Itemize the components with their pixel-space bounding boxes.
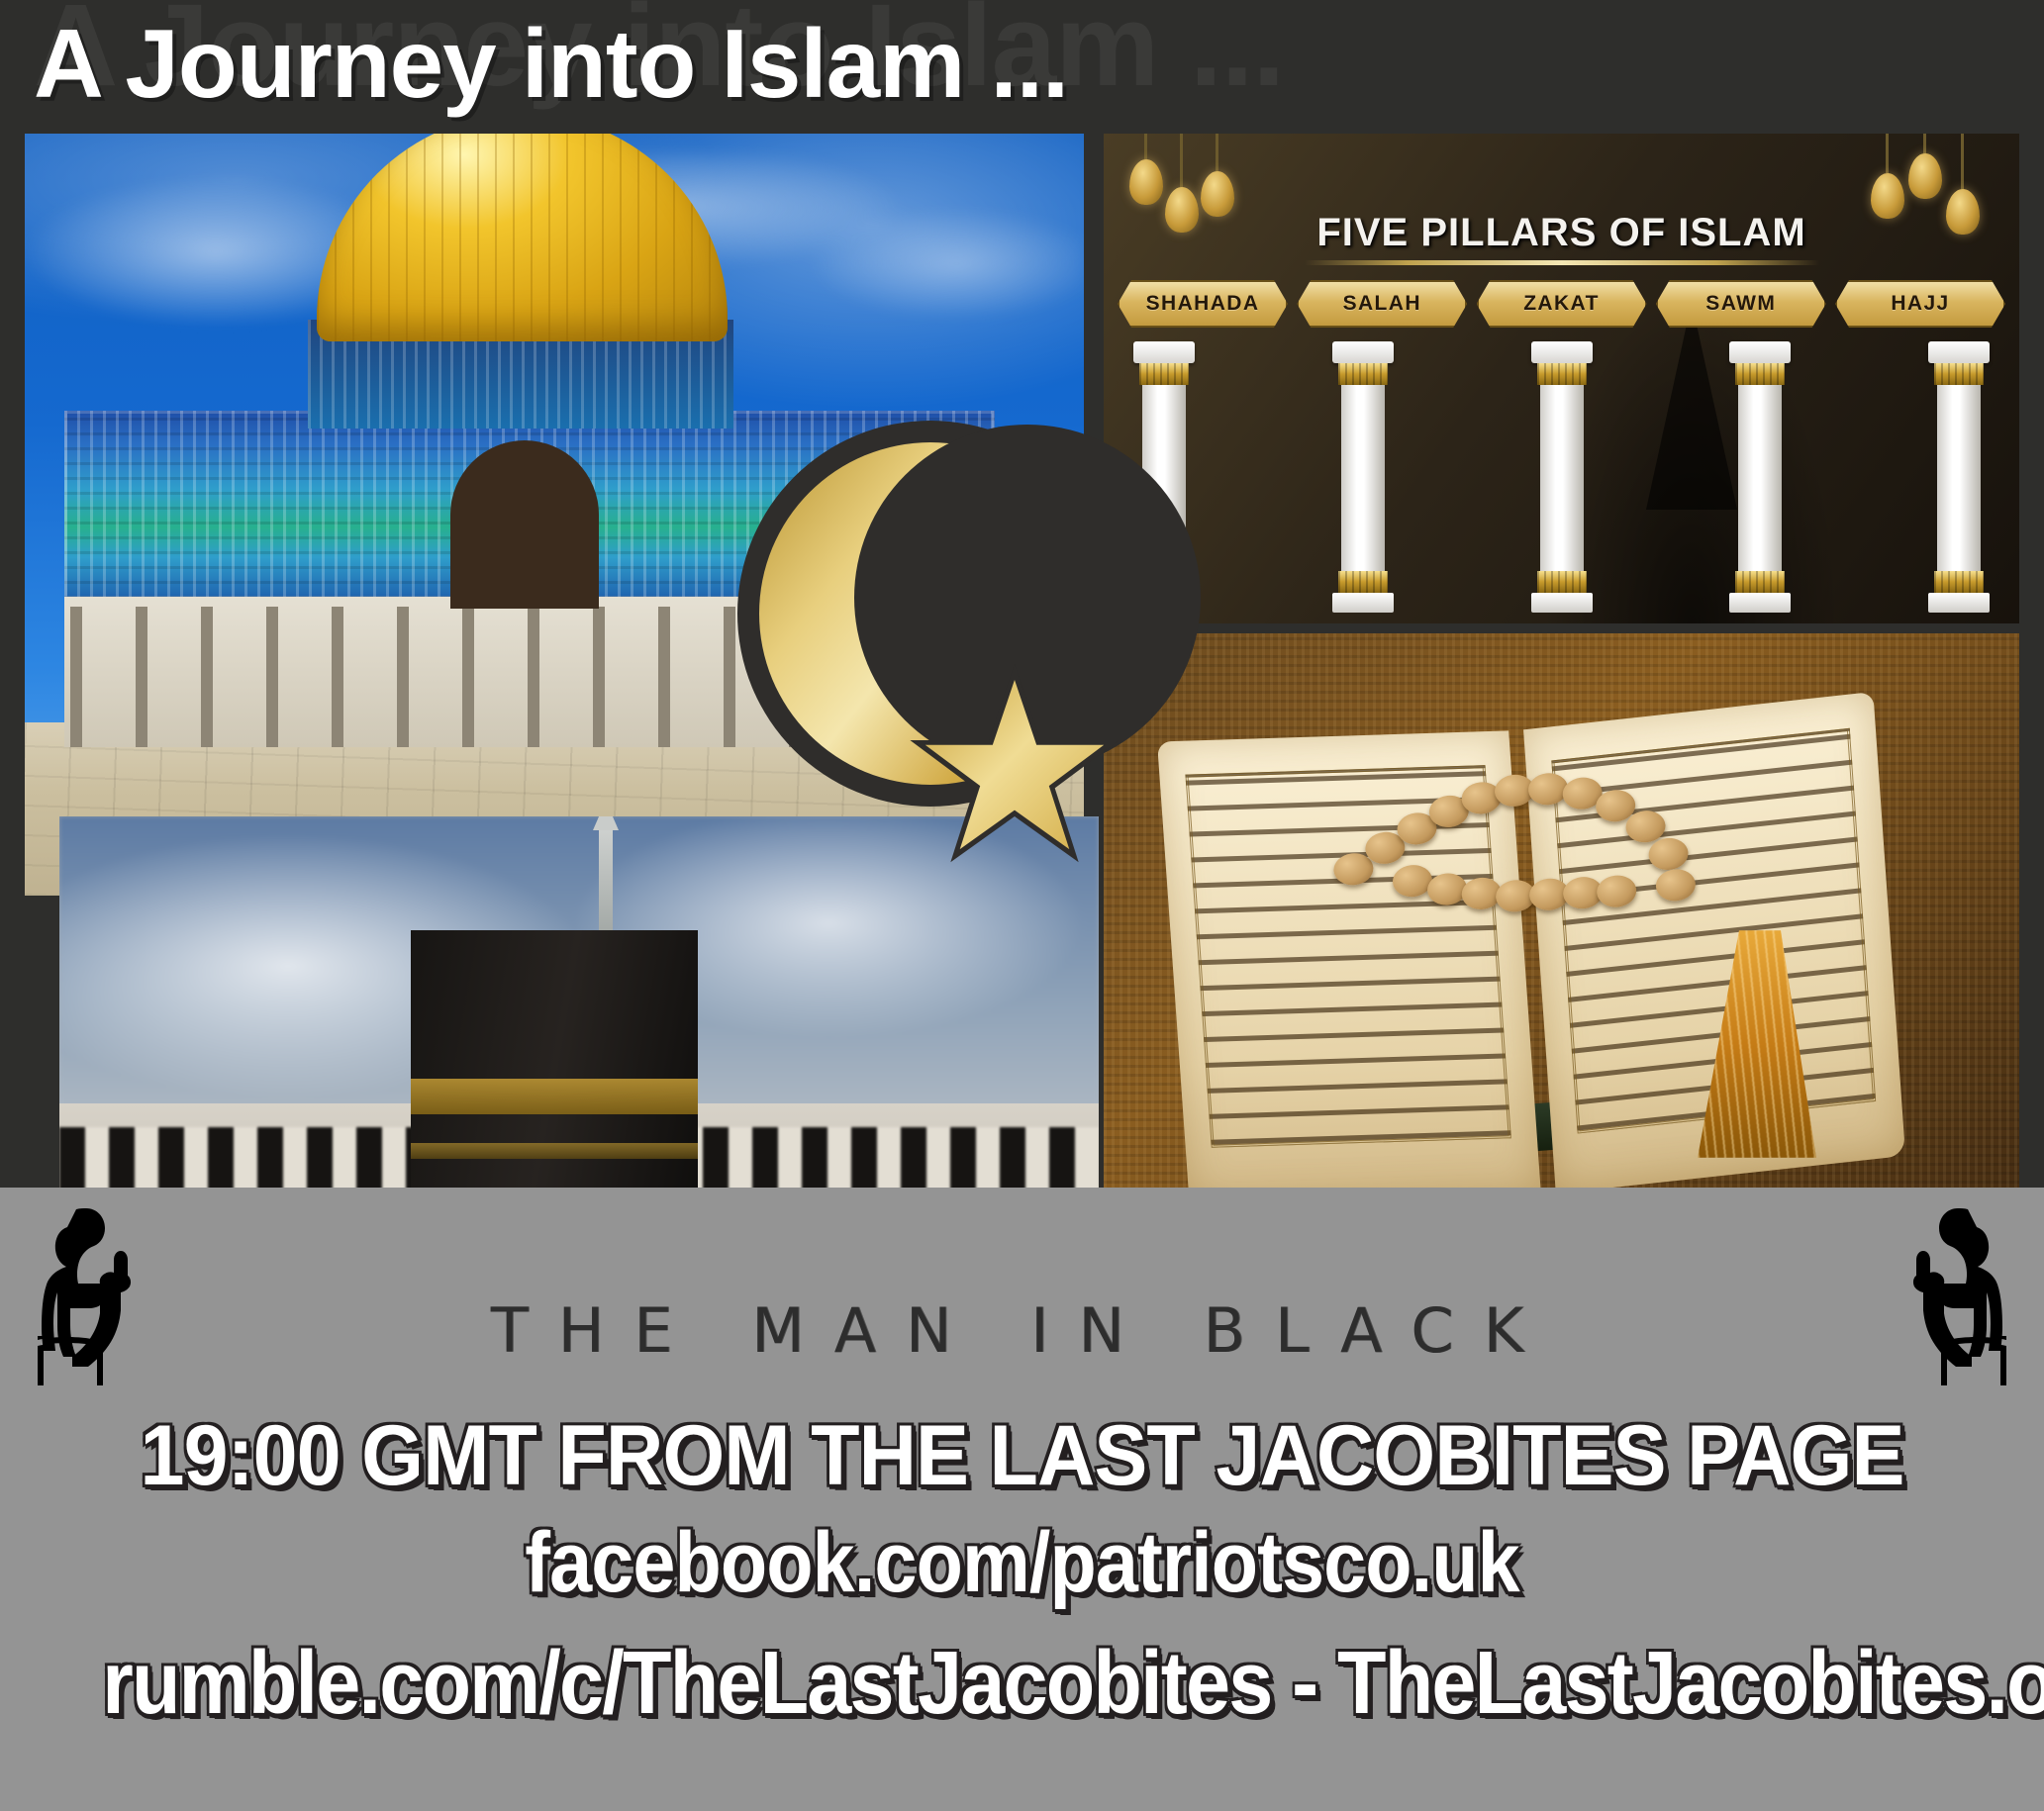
graphic-five-pillars: FIVE PILLARS OF ISLAM SHAHADA SALAH ZAKA… [1104,134,2019,623]
pillar-column-3 [1531,341,1593,613]
crescent-and-star-icon [737,421,1163,960]
pillar-badge-shahada[interactable]: SHAHADA [1118,280,1288,328]
pillar-badge-sawm[interactable]: SAWM [1656,280,1826,328]
pillar-column-5 [1928,341,1990,613]
five-pillars-heading: FIVE PILLARS OF ISLAM [1104,211,2019,255]
heading-flourish-divider [1305,260,1819,265]
footer-line-rumble-website[interactable]: rumble.com/c/TheLastJacobites - TheLastJ… [102,1633,1942,1735]
pillar-badge-row: SHAHADA SALAH ZAKAT SAWM HAJJ [1118,280,2005,328]
pillar-column-2 [1332,341,1394,613]
brand-strip-man-in-black: THE MAN IN BLACK [0,1294,2044,1367]
kiswah-lower-band [411,1143,698,1159]
page-title: A Journey into Islam ... A Journey into … [0,0,1683,139]
footer-line-facebook[interactable]: facebook.com/patriotsco.uk [102,1514,1942,1612]
pillar-badge-salah[interactable]: SALAH [1297,280,1467,328]
entrance-arch [450,440,599,609]
page-title-text: A Journey into Islam ... [34,8,1068,120]
footer-line-showtime: 19:00 GMT FROM THE LAST JACOBITES PAGE [61,1407,1983,1505]
pillar-column-row [1133,341,1990,613]
pillar-badge-zakat[interactable]: ZAKAT [1477,280,1647,328]
pillar-column-4 [1729,341,1791,613]
pillar-badge-hajj[interactable]: HAJJ [1835,280,2005,328]
kiswah-gold-band [411,1079,698,1114]
poster-canvas: A Journey into Islam ... A Journey into … [0,0,2044,1811]
star-group [844,636,1141,933]
star-gold-body [922,680,1108,866]
footer-bar: THE MAN IN BLACK 19:00 GMT FROM THE LAST… [0,1188,2044,1811]
